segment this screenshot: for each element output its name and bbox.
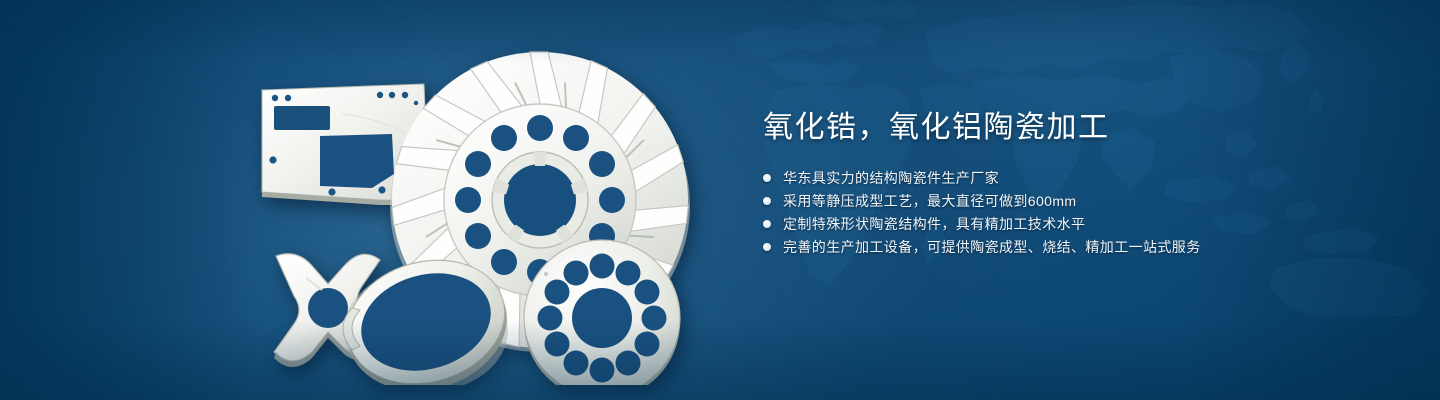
list-item: 华东具实力的结构陶瓷件生产厂家: [763, 170, 1383, 186]
feature-text: 完善的生产加工设备，可提供陶瓷成型、烧结、精加工一站式服务: [783, 239, 1201, 255]
feature-text: 定制特殊形状陶瓷结构件，具有精加工技术水平: [783, 216, 1085, 232]
list-item: 采用等静压成型工艺，最大直径可做到600mm: [763, 193, 1383, 209]
list-item: 定制特殊形状陶瓷结构件，具有精加工技术水平: [763, 216, 1383, 232]
bullet-dot-icon: [763, 243, 771, 251]
banner-headline: 氧化锆，氧化铝陶瓷加工: [763, 108, 1383, 148]
product-image-group: [232, 40, 702, 385]
list-item: 完善的生产加工设备，可提供陶瓷成型、烧结、精加工一站式服务: [763, 239, 1383, 255]
feature-text: 采用等静压成型工艺，最大直径可做到600mm: [783, 193, 1076, 209]
bullet-dot-icon: [763, 220, 771, 228]
feature-text: 华东具实力的结构陶瓷件生产厂家: [783, 170, 999, 186]
promo-banner: 氧化锆，氧化铝陶瓷加工 华东具实力的结构陶瓷件生产厂家 采用等静压成型工艺，最大…: [0, 0, 1440, 400]
feature-list: 华东具实力的结构陶瓷件生产厂家 采用等静压成型工艺，最大直径可做到600mm 定…: [763, 170, 1383, 255]
bullet-dot-icon: [763, 174, 771, 182]
ceramic-perforated-disc: [524, 240, 680, 385]
banner-text-block: 氧化锆，氧化铝陶瓷加工 华东具实力的结构陶瓷件生产厂家 采用等静压成型工艺，最大…: [763, 108, 1383, 262]
bullet-dot-icon: [763, 197, 771, 205]
